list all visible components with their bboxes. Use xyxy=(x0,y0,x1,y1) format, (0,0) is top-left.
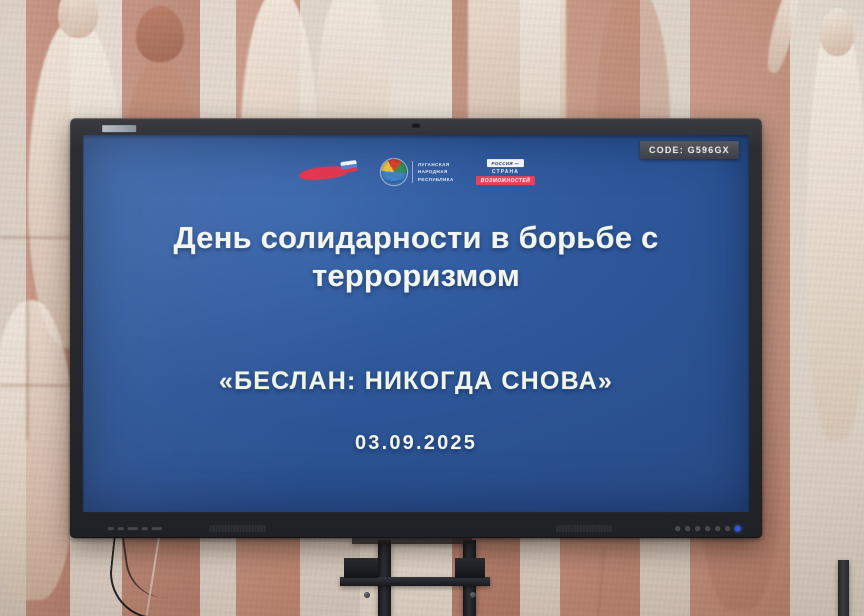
lnr-line-2: НАРОДНАЯ xyxy=(418,169,454,176)
partner-map-logo xyxy=(297,161,359,183)
logo-divider xyxy=(412,161,413,183)
bezel-ports-left[interactable] xyxy=(108,527,162,530)
aux-port-icon[interactable] xyxy=(128,527,138,530)
slide-title: День солидарности в борьбе с терроризмом xyxy=(115,219,717,295)
emblem-arc-icon xyxy=(384,173,403,184)
slide-logo-strip: ЛУГАНСКАЯ НАРОДНАЯ РЕСПУБЛИКА РОССИЯ — С… xyxy=(83,159,749,185)
display-bezel: CODE: G596GX xyxy=(70,118,762,538)
power-button-led[interactable] xyxy=(735,526,740,531)
interactive-display[interactable]: CODE: G596GX xyxy=(70,118,762,538)
rsv-line-middle: СТРАНА xyxy=(492,169,519,175)
mic-port-icon[interactable] xyxy=(142,527,148,530)
usb-port-icon[interactable] xyxy=(108,527,114,530)
touch-port-icon[interactable] xyxy=(152,527,162,530)
speaker-grille-right xyxy=(556,525,612,532)
rsv-line-bottom: ВОЗМОЖНОСТЕЙ xyxy=(476,176,535,185)
bezel-button-back[interactable] xyxy=(725,526,730,531)
ir-sensor-icon xyxy=(412,123,421,128)
lnr-emblem-logo: ЛУГАНСКАЯ НАРОДНАЯ РЕСПУБЛИКА xyxy=(381,159,454,185)
speaker-grille-left xyxy=(210,525,266,532)
bezel-button-home[interactable] xyxy=(715,526,720,531)
rsv-line-top: РОССИЯ — xyxy=(486,159,524,167)
hdmi-port-icon[interactable] xyxy=(118,527,124,530)
lnr-coat-of-arms-icon xyxy=(381,159,407,185)
bezel-button-volume-up[interactable] xyxy=(705,526,710,531)
bezel-button-source[interactable] xyxy=(685,526,690,531)
map-shape-icon xyxy=(299,161,357,181)
rossiya-strana-vozmozhnostey-logo: РОССИЯ — СТРАНА ВОЗМОЖНОСТЕЙ xyxy=(476,159,535,185)
brand-logo-sticker xyxy=(102,125,136,132)
bezel-button-row[interactable] xyxy=(675,526,740,531)
flag-icon xyxy=(340,160,357,173)
display-screen[interactable]: CODE: G596GX xyxy=(83,135,749,512)
bezel-button-menu[interactable] xyxy=(675,526,680,531)
screenshot-stage: CODE: G596GX xyxy=(0,0,864,616)
lnr-logo-text: ЛУГАНСКАЯ НАРОДНАЯ РЕСПУБЛИКА xyxy=(418,161,454,182)
slide-subtitle: «БЕСЛАН: НИКОГДА СНОВА» xyxy=(115,367,717,396)
session-code-badge: CODE: G596GX xyxy=(640,141,739,159)
bezel-button-volume-down[interactable] xyxy=(695,526,700,531)
slide-content: День солидарности в борьбе с терроризмом… xyxy=(83,219,749,455)
slide-date: 03.09.2025 xyxy=(115,432,717,455)
lnr-line-3: РЕСПУБЛИКА xyxy=(418,176,454,183)
lnr-line-1: ЛУГАНСКАЯ xyxy=(418,161,454,168)
